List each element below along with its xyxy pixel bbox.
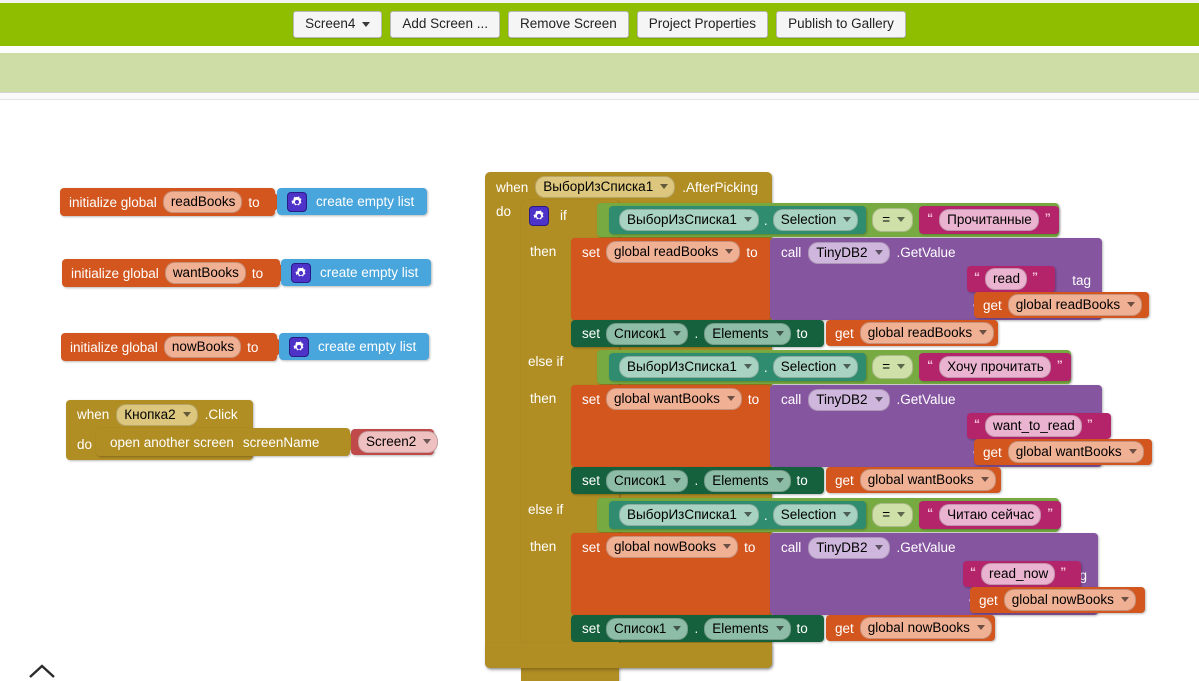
block-set-global-wantBooks[interactable]: set global wantBooks to: [571, 385, 771, 467]
chevron-down-icon: [744, 364, 752, 369]
chevron-down-icon: [979, 330, 987, 335]
open-quote-icon: “: [927, 359, 933, 371]
set-label: set: [582, 392, 600, 407]
global-variable-dropdown[interactable]: global nowBooks: [606, 536, 738, 558]
global-variable-dropdown[interactable]: global readBooks: [1008, 294, 1142, 316]
open-quote-icon: “: [974, 418, 980, 430]
screen-selector-dropdown[interactable]: Screen4: [293, 11, 382, 39]
block-get-global-readBooks-default[interactable]: get global readBooks: [974, 292, 1149, 318]
block-initialize-global-readBooks[interactable]: initialize global readBooks to: [60, 188, 275, 216]
block-compare-equal-3[interactable]: ВыборИзСписка1 . Selection = “ Читаю сей…: [597, 498, 1059, 532]
chevron-down-icon: [183, 412, 191, 417]
initialize-global-label: initialize global: [69, 195, 157, 210]
global-variable-dropdown[interactable]: global nowBooks: [860, 617, 992, 639]
block-set-spisok1-elements-2[interactable]: set Список1 . Elements to: [571, 467, 824, 494]
else-if-label: else if: [528, 354, 563, 369]
to-label: to: [748, 392, 759, 407]
to-label: to: [247, 340, 258, 355]
call-label: call: [781, 540, 801, 555]
screen-selector-label: Screen4: [305, 17, 355, 32]
to-label: to: [797, 621, 808, 636]
block-get-global-nowBooks-default[interactable]: get global nowBooks: [970, 587, 1145, 613]
tag-param-label: tag: [1072, 273, 1091, 288]
create-empty-list-label: create empty list: [318, 339, 416, 354]
set-label: set: [582, 326, 600, 341]
chevron-down-icon: [776, 331, 784, 336]
then-label: then: [530, 539, 556, 554]
chevron-down-icon: [725, 249, 733, 254]
dot-label: .: [694, 326, 698, 341]
close-quote-icon: ”: [1047, 507, 1053, 519]
get-label: get: [835, 326, 854, 341]
mutator-gear-icon[interactable]: [289, 337, 309, 357]
blocks-workspace[interactable]: initialize global readBooks to create em…: [0, 100, 1199, 681]
text-value-field[interactable]: Прочитанные: [939, 209, 1039, 231]
global-variable-dropdown[interactable]: global nowBooks: [1004, 589, 1136, 611]
open-another-screen-label: open another screen: [110, 435, 234, 450]
if-label: if: [560, 208, 567, 223]
to-label: to: [797, 326, 808, 341]
event-header-row: when ВыборИзСписка1 .AfterPicking: [485, 172, 772, 202]
block-create-empty-list-1[interactable]: create empty list: [277, 188, 427, 215]
open-quote-icon: “: [927, 507, 933, 519]
block-initialize-global-nowBooks[interactable]: initialize global nowBooks to: [61, 333, 277, 361]
block-text-string-2[interactable]: “ Хочу прочитать ”: [919, 353, 1071, 381]
block-set-spisok1-elements-3[interactable]: set Список1 . Elements to: [571, 615, 824, 642]
block-text-string-1[interactable]: “ Прочитанные ”: [919, 206, 1059, 234]
property-dropdown-field[interactable]: Selection: [773, 209, 859, 231]
component-dropdown-field[interactable]: ВыборИзСписка1: [619, 209, 759, 231]
chevron-down-icon: [897, 217, 905, 222]
set-label: set: [582, 245, 600, 260]
tag-value-field[interactable]: read: [985, 268, 1027, 290]
chevron-down-icon: [727, 396, 735, 401]
get-label: get: [835, 621, 854, 636]
chevron-down-icon: [673, 626, 681, 631]
property-dropdown-field[interactable]: Elements: [704, 470, 790, 492]
block-open-another-screen[interactable]: open another screen screenName: [96, 428, 350, 456]
mutator-gear-icon[interactable]: [287, 192, 307, 212]
get-label: get: [983, 298, 1002, 313]
chevron-down-icon: [875, 250, 883, 255]
chevron-down-icon: [673, 331, 681, 336]
component-dropdown-field[interactable]: Список1: [606, 618, 688, 640]
event-name-label: .Click: [205, 407, 238, 422]
get-label: get: [835, 473, 854, 488]
initialize-global-label: initialize global: [70, 340, 158, 355]
global-variable-dropdown[interactable]: global readBooks: [860, 322, 994, 344]
global-variable-dropdown[interactable]: global wantBooks: [860, 469, 996, 491]
mutator-gear-icon[interactable]: [291, 263, 311, 283]
when-label: when: [77, 407, 109, 422]
block-compare-equal-2[interactable]: ВыборИзСписка1 . Selection = “ Хочу проч…: [597, 350, 1071, 384]
to-label: to: [248, 195, 259, 210]
remove-screen-button[interactable]: Remove Screen: [508, 11, 629, 39]
close-quote-icon: ”: [1087, 418, 1093, 430]
add-screen-button[interactable]: Add Screen ...: [390, 11, 500, 39]
then-label: then: [530, 391, 556, 406]
chevron-up-icon[interactable]: [28, 663, 56, 679]
dot-label: .: [764, 360, 768, 375]
do-label: do: [496, 204, 511, 219]
property-dropdown-field[interactable]: Selection: [773, 356, 859, 378]
create-empty-list-label: create empty list: [320, 265, 418, 280]
close-quote-icon: ”: [1057, 359, 1063, 371]
chevron-down-icon: [723, 544, 731, 549]
component-dropdown-field[interactable]: ВыборИзСписка1: [535, 176, 675, 198]
comparison-operator-dropdown[interactable]: =: [872, 208, 913, 232]
global-variable-dropdown[interactable]: global readBooks: [606, 241, 740, 263]
chevron-down-icon: [744, 217, 752, 222]
global-variable-dropdown[interactable]: global wantBooks: [1008, 441, 1144, 463]
open-quote-icon: “: [970, 566, 976, 578]
text-value-field[interactable]: Читаю сейчас: [939, 504, 1041, 526]
chevron-down-icon: [897, 512, 905, 517]
tag-value-field[interactable]: want_to_read: [985, 415, 1082, 437]
block-initialize-global-wantBooks[interactable]: initialize global wantBooks to: [62, 259, 280, 287]
component-dropdown-field[interactable]: Список1: [606, 323, 688, 345]
block-get-global-wantBooks-elements[interactable]: get global wantBooks: [826, 467, 1001, 493]
close-quote-icon: ”: [1060, 566, 1066, 578]
call-label: call: [781, 245, 801, 260]
set-label: set: [582, 473, 600, 488]
block-compare-equal-1[interactable]: ВыборИзСписка1 . Selection = “ Прочитанн…: [597, 203, 1059, 237]
component-dropdown-field[interactable]: TinyDB2: [808, 389, 889, 411]
chevron-down-icon: [362, 22, 370, 27]
call-label: call: [781, 392, 801, 407]
set-label: set: [582, 621, 600, 636]
property-dropdown-field[interactable]: Elements: [704, 618, 790, 640]
global-variable-dropdown[interactable]: global wantBooks: [606, 388, 742, 410]
event-name-label: .AfterPicking: [682, 180, 758, 195]
dot-label: .: [764, 508, 768, 523]
component-dropdown-field[interactable]: Кнопка2: [116, 404, 197, 426]
block-text-tag-1[interactable]: “ read ”: [967, 266, 1055, 292]
chevron-down-icon: [843, 364, 851, 369]
block-create-empty-list-3[interactable]: create empty list: [279, 333, 429, 360]
mutator-gear-icon[interactable]: [529, 206, 549, 226]
close-quote-icon: ”: [1045, 212, 1051, 224]
to-label: to: [252, 266, 263, 281]
open-quote-icon: “: [927, 212, 933, 224]
chevron-down-icon: [977, 625, 985, 630]
then-label-wrap-3: then: [530, 538, 556, 556]
chevron-down-icon: [776, 626, 784, 631]
global-name-field[interactable]: nowBooks: [164, 336, 241, 358]
block-get-global-readBooks-elements[interactable]: get global readBooks: [826, 320, 998, 346]
chevron-down-icon: [843, 512, 851, 517]
chevron-down-icon: [423, 439, 431, 444]
component-dropdown-field[interactable]: ВыборИзСписка1: [619, 504, 759, 526]
chevron-down-icon: [1129, 449, 1137, 454]
do-label-wrap: do: [496, 203, 511, 221]
event-block-bottom-bar: [485, 643, 772, 668]
block-text-tag-2[interactable]: “ want_to_read ”: [967, 413, 1111, 439]
global-name-field[interactable]: readBooks: [163, 191, 243, 213]
property-dropdown-field[interactable]: Elements: [704, 323, 790, 345]
then-label-wrap-2: then: [530, 390, 556, 408]
block-create-empty-list-2[interactable]: create empty list: [281, 259, 431, 286]
component-dropdown-field[interactable]: TinyDB2: [808, 537, 889, 559]
screen-toolbar: Screen4 Add Screen ... Remove Screen Pro…: [0, 3, 1199, 46]
set-label: set: [582, 540, 600, 555]
publish-to-gallery-button[interactable]: Publish to Gallery: [776, 11, 906, 39]
block-set-global-nowBooks[interactable]: set global nowBooks to: [571, 533, 771, 615]
block-text-tag-3[interactable]: “ read_now ”: [963, 561, 1081, 587]
block-screen2-value[interactable]: Screen2: [351, 429, 434, 455]
chevron-down-icon: [744, 512, 752, 517]
block-get-global-nowBooks-elements[interactable]: get global nowBooks: [826, 615, 995, 641]
do-label: do: [77, 437, 92, 452]
comparison-operator-dropdown[interactable]: =: [872, 503, 913, 527]
project-properties-button[interactable]: Project Properties: [637, 11, 768, 39]
chevron-down-icon: [875, 397, 883, 402]
dot-label: .: [694, 621, 698, 636]
dot-label: .: [764, 213, 768, 228]
get-label: get: [979, 593, 998, 608]
block-set-spisok1-elements-1[interactable]: set Список1 . Elements to: [571, 320, 824, 347]
block-component-property-getter-1[interactable]: ВыборИзСписка1 . Selection: [609, 206, 866, 234]
else-if-label: else if: [528, 502, 563, 517]
chevron-down-icon: [1121, 597, 1129, 602]
chevron-down-icon: [897, 364, 905, 369]
component-dropdown-field[interactable]: TinyDB2: [808, 242, 889, 264]
to-label: to: [797, 473, 808, 488]
initialize-global-label: initialize global: [71, 266, 159, 281]
chevron-down-icon: [981, 477, 989, 482]
secondary-toolbar: [0, 53, 1199, 92]
screen-name-field[interactable]: Screen2: [358, 431, 438, 453]
then-label-wrap-1: then: [530, 243, 556, 261]
elseif-label-wrap-1: else if: [528, 353, 563, 371]
method-name-label: .GetValue: [897, 392, 956, 407]
block-set-global-readBooks[interactable]: set global readBooks to: [571, 238, 771, 320]
method-name-label: .GetValue: [897, 245, 956, 260]
close-quote-icon: ”: [1032, 271, 1038, 283]
text-value-field[interactable]: Хочу прочитать: [939, 356, 1051, 378]
screen-name-param-label: screenName: [243, 435, 320, 450]
component-dropdown-field[interactable]: Список1: [606, 470, 688, 492]
to-label: to: [746, 245, 757, 260]
if-row: if: [529, 202, 567, 229]
then-label: then: [530, 244, 556, 259]
when-label: when: [496, 180, 528, 195]
global-name-field[interactable]: wantBooks: [165, 262, 246, 284]
chevron-down-icon: [660, 184, 668, 189]
to-label: to: [744, 540, 755, 555]
get-label: get: [983, 445, 1002, 460]
create-empty-list-label: create empty list: [316, 194, 414, 209]
block-text-string-3[interactable]: “ Читаю сейчас ”: [919, 501, 1061, 529]
block-component-property-getter-3[interactable]: ВыборИзСписка1 . Selection: [609, 501, 866, 529]
tag-value-field[interactable]: read_now: [981, 563, 1055, 585]
comparison-operator-dropdown[interactable]: =: [872, 355, 913, 379]
chevron-down-icon: [875, 545, 883, 550]
chevron-down-icon: [1127, 302, 1135, 307]
block-component-property-getter-2[interactable]: ВыборИзСписка1 . Selection: [609, 353, 866, 381]
app-inventor-blocks-editor: Screen4 Add Screen ... Remove Screen Pro…: [0, 0, 1199, 681]
block-get-global-wantBooks-default[interactable]: get global wantBooks: [974, 439, 1152, 465]
dot-label: .: [694, 473, 698, 488]
method-name-label: .GetValue: [897, 540, 956, 555]
property-dropdown-field[interactable]: Selection: [773, 504, 859, 526]
component-dropdown-field[interactable]: ВыборИзСписка1: [619, 356, 759, 378]
chevron-down-icon: [776, 478, 784, 483]
open-quote-icon: “: [974, 271, 980, 283]
chevron-down-icon: [843, 217, 851, 222]
chevron-down-icon: [673, 478, 681, 483]
toolbar-gap: [0, 46, 1199, 53]
elseif-label-wrap-2: else if: [528, 501, 563, 519]
